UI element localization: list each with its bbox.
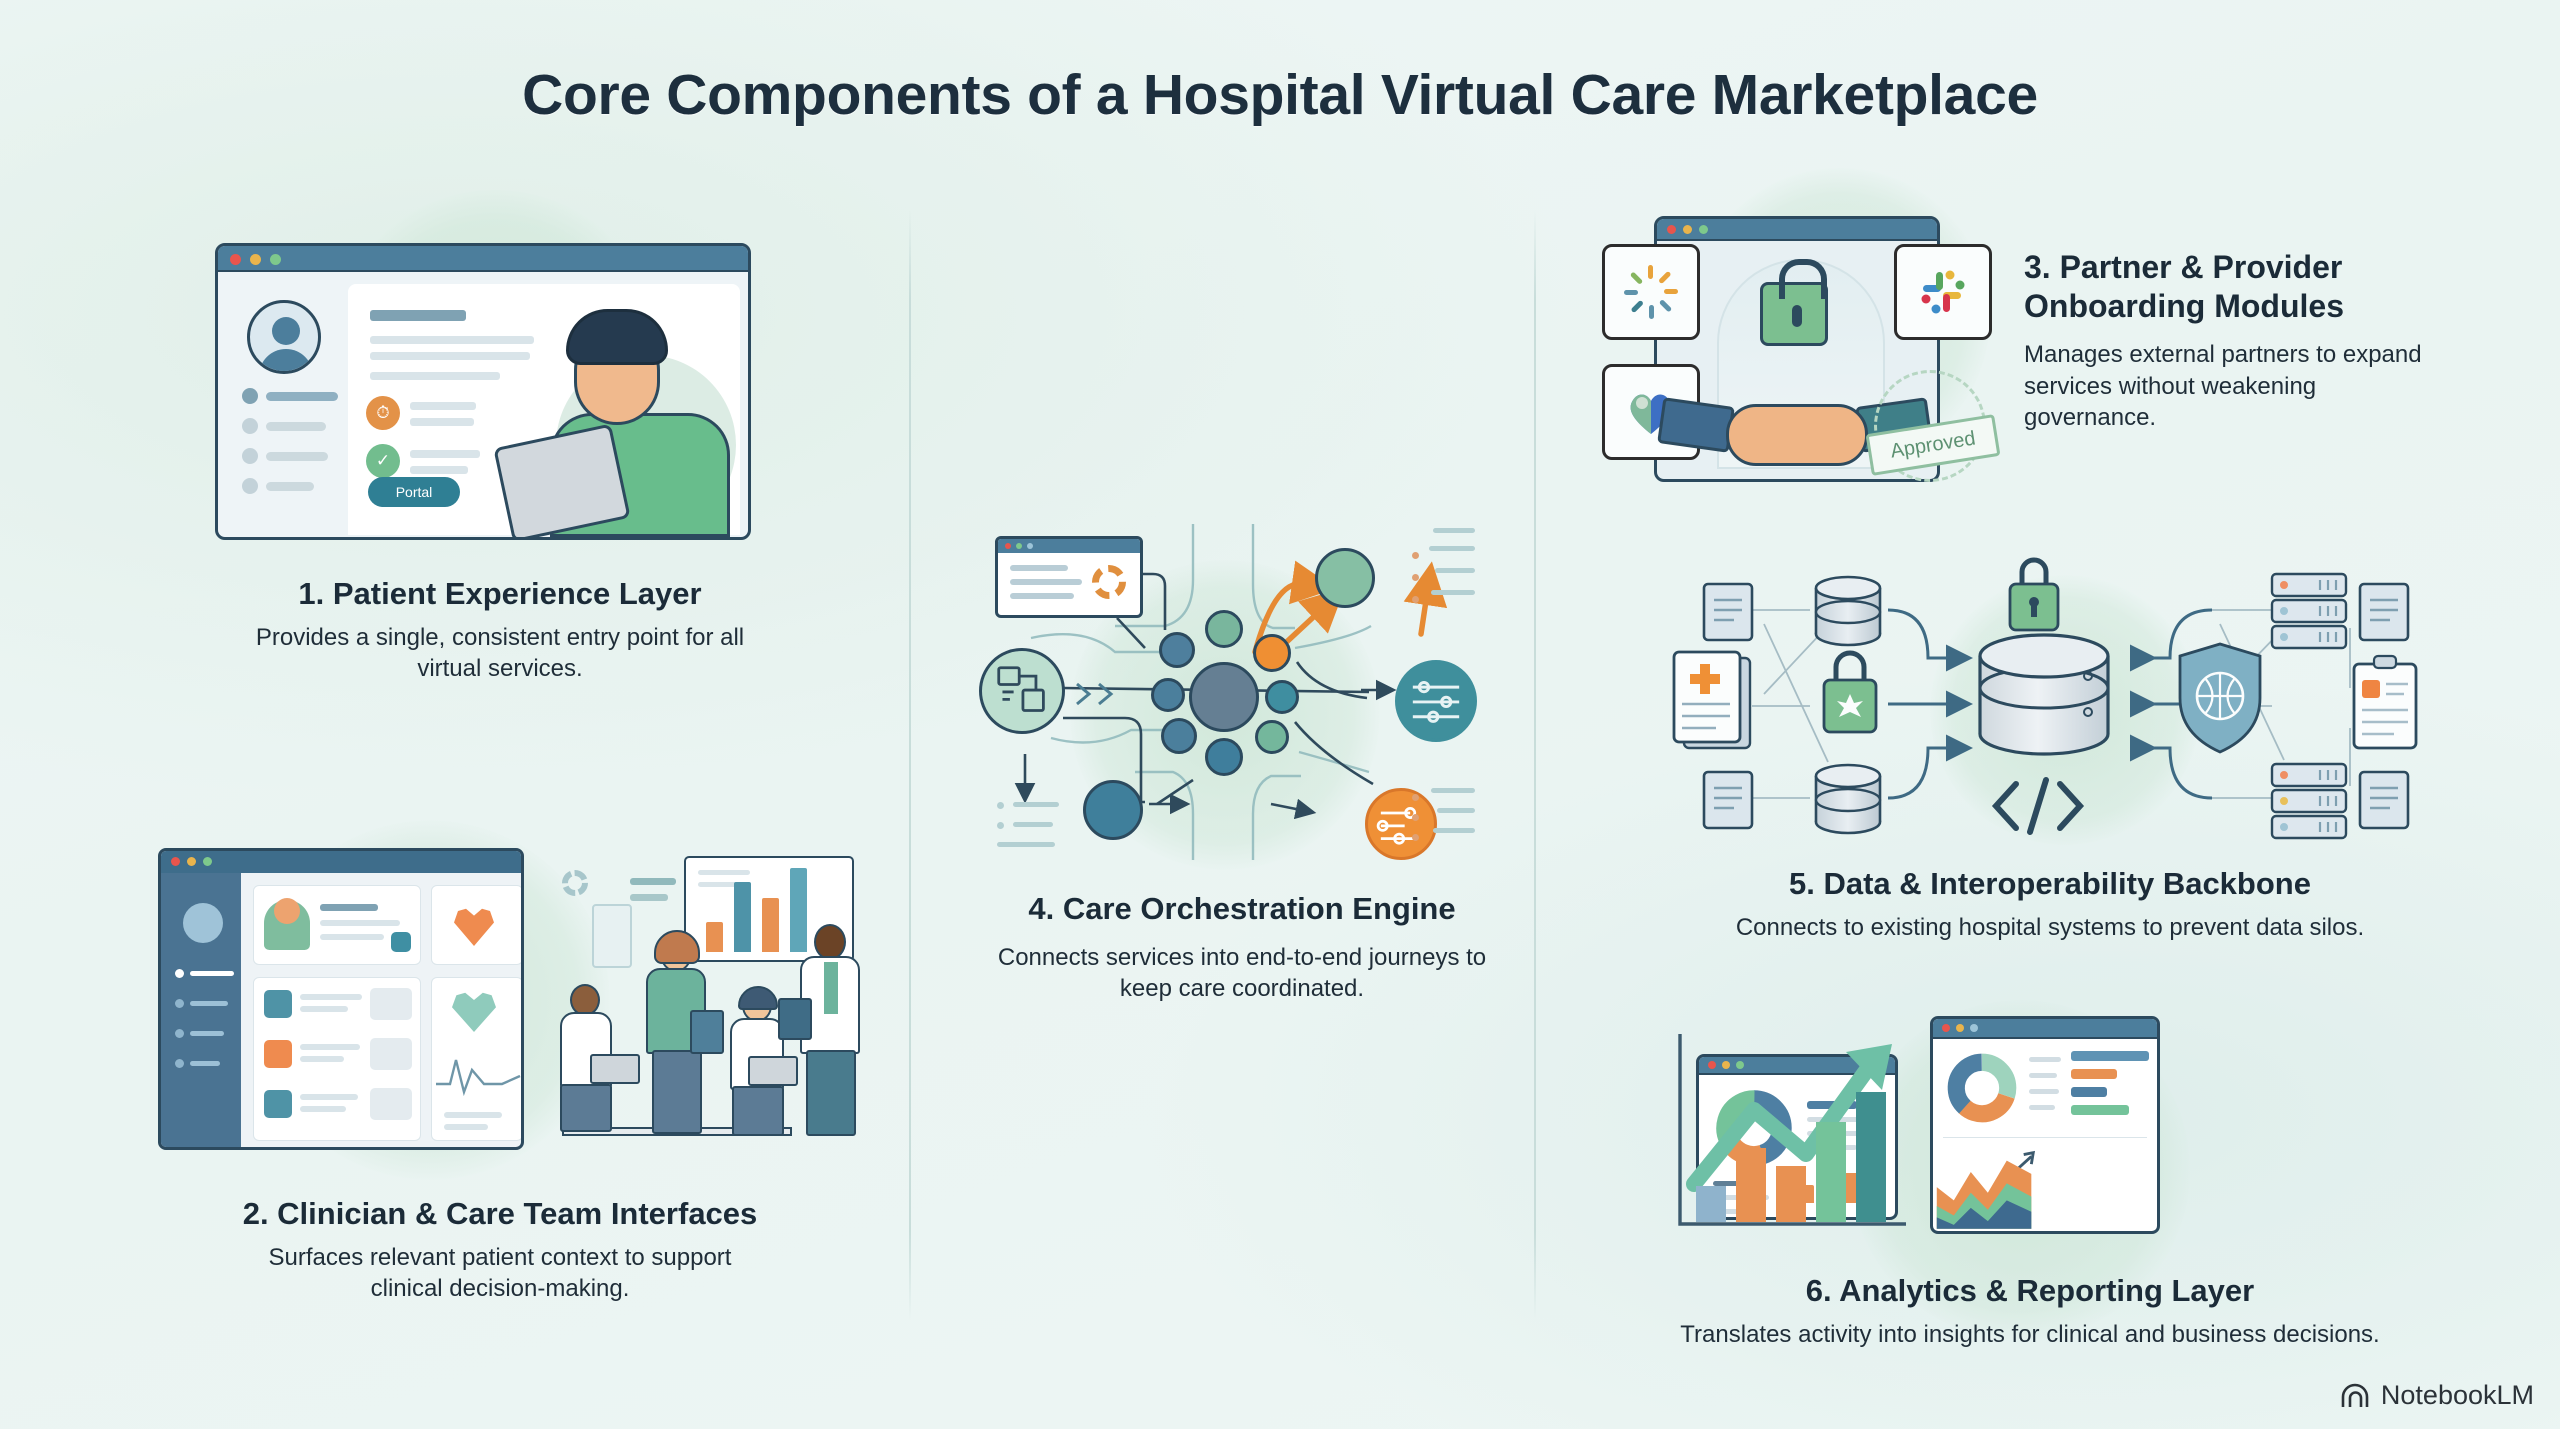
nav-label-2[interactable] bbox=[266, 422, 326, 431]
nav-dot-4[interactable] bbox=[242, 478, 258, 494]
vitals-heart-card[interactable] bbox=[431, 885, 523, 965]
ob-min-dot[interactable] bbox=[1683, 225, 1692, 234]
orders-line-2b bbox=[300, 1056, 344, 1062]
component-2-block: 2. Clinician & Care Team Interfaces Surf… bbox=[140, 1195, 860, 1305]
content-line-2 bbox=[370, 352, 530, 360]
ecg-card[interactable] bbox=[431, 977, 523, 1141]
ob-close-dot[interactable] bbox=[1667, 225, 1676, 234]
sliders-icon bbox=[1398, 663, 1474, 739]
patient-figure bbox=[532, 285, 744, 535]
list-line-tr-1 bbox=[1429, 546, 1475, 551]
laptop-left bbox=[590, 1054, 640, 1084]
pending-status-icon: ⏱ bbox=[366, 396, 400, 430]
notebooklm-logo-icon bbox=[2341, 1383, 2371, 1409]
satellite-node-left[interactable] bbox=[1151, 678, 1185, 712]
list-dot-bl-2 bbox=[997, 822, 1004, 829]
chat-app-logo-icon bbox=[1916, 265, 1970, 319]
list-line-br-3 bbox=[1433, 828, 1475, 833]
backbone-graph bbox=[1660, 548, 2450, 840]
ehr-sidebar bbox=[161, 873, 241, 1147]
list-line-bl-2 bbox=[1013, 822, 1053, 827]
governance-padlock-icon bbox=[1760, 282, 1828, 346]
ehr-nav-dot-1[interactable] bbox=[175, 969, 184, 978]
portal-sidebar bbox=[218, 272, 340, 537]
component-3-description: Manages external partners to expand serv… bbox=[2024, 339, 2444, 434]
list-line-bl-1 bbox=[1013, 802, 1059, 807]
ld-kpi-bar-4 bbox=[2071, 1105, 2129, 1115]
head bbox=[814, 924, 846, 960]
integration-tile-chat[interactable] bbox=[1894, 244, 1992, 340]
component-6-description: Translates activity into insights for cl… bbox=[1560, 1319, 2500, 1351]
hand-clasp bbox=[1726, 404, 1868, 466]
component-4-heading: 4. Care Orchestration Engine bbox=[962, 890, 1522, 928]
satellite-node-bottom[interactable] bbox=[1205, 738, 1243, 776]
browser-frame: ⏱ ✓ Portal bbox=[215, 243, 751, 540]
hub-node-central[interactable] bbox=[1189, 662, 1259, 732]
ld-kpi-bar-1 bbox=[2071, 1051, 2149, 1061]
patient-meta-2 bbox=[320, 934, 384, 940]
list-line-br-2 bbox=[1437, 808, 1475, 813]
server-rack-top bbox=[2272, 574, 2346, 648]
ehr-min-dot[interactable] bbox=[187, 857, 196, 866]
code-brackets-icon bbox=[1996, 780, 2080, 832]
orchestration-network-illustration bbox=[965, 522, 1485, 862]
ld-kpi-bar-3 bbox=[2071, 1087, 2107, 1097]
page-title: Core Components of a Hospital Virtual Ca… bbox=[0, 62, 2560, 128]
wall-note-2 bbox=[630, 894, 668, 901]
nav-label-1[interactable] bbox=[266, 392, 338, 401]
status-line-2b bbox=[410, 466, 468, 474]
list-dot-br-3 bbox=[1412, 834, 1419, 841]
component-6-heading: 6. Analytics & Reporting Layer bbox=[1560, 1272, 2500, 1310]
settings-titlebar bbox=[998, 539, 1140, 553]
shield-globe-icon bbox=[2180, 644, 2260, 752]
satellite-node-top[interactable] bbox=[1205, 610, 1243, 648]
orders-line-3a bbox=[300, 1094, 358, 1100]
orders-line-1a bbox=[300, 994, 362, 1000]
component-3-block: 3. Partner & Provider Onboarding Modules… bbox=[2024, 248, 2444, 434]
nav-label-4[interactable] bbox=[266, 482, 314, 491]
partner-onboarding-illustration: Approved bbox=[1602, 196, 1992, 496]
component-1-block: 1. Patient Experience Layer Provides a s… bbox=[180, 575, 820, 685]
component-3-heading: 3. Partner & Provider Onboarding Modules bbox=[2024, 248, 2444, 326]
settings-line-1 bbox=[1010, 565, 1068, 571]
db-cylinder-bottom-left bbox=[1816, 765, 1880, 833]
patient-name-line bbox=[320, 904, 378, 911]
component-1-description: Provides a single, consistent entry poin… bbox=[180, 622, 820, 685]
padlock-top-center bbox=[2010, 560, 2058, 630]
ld-divider bbox=[1943, 1137, 2147, 1138]
nav-dot-3[interactable] bbox=[242, 448, 258, 464]
endpoint-node-routing[interactable] bbox=[1365, 788, 1437, 860]
ehr-avatar bbox=[183, 903, 223, 943]
monitor-figure-icon bbox=[592, 904, 632, 968]
watermark-label: NotebookLM bbox=[2381, 1380, 2534, 1411]
s-max-dot[interactable] bbox=[1027, 543, 1033, 549]
ehr-nav-dot-4[interactable] bbox=[175, 1059, 184, 1068]
component-5-description: Connects to existing hospital systems to… bbox=[1600, 912, 2500, 944]
component-5-block: 5. Data & Interoperability Backbone Conn… bbox=[1600, 865, 2500, 943]
component-4-block: 4. Care Orchestration Engine Connects se… bbox=[962, 890, 1522, 1005]
board-bar-2 bbox=[734, 882, 751, 952]
browser-titlebar bbox=[218, 246, 748, 272]
ld-legend-line-4 bbox=[2029, 1105, 2055, 1110]
ld-legend-line-3 bbox=[2029, 1089, 2059, 1094]
document-bottom-left bbox=[1704, 772, 1752, 828]
endpoint-node-sliders[interactable] bbox=[1395, 660, 1477, 742]
window-maximize-dot[interactable] bbox=[270, 254, 281, 265]
column-divider-left bbox=[909, 210, 911, 1320]
satellite-node-right[interactable] bbox=[1265, 680, 1299, 714]
satellite-node-lower-right[interactable] bbox=[1255, 720, 1289, 754]
list-dot-br-1 bbox=[1412, 794, 1419, 801]
component-6-block: 6. Analytics & Reporting Layer Translate… bbox=[1560, 1272, 2500, 1350]
s-min-dot[interactable] bbox=[1016, 543, 1022, 549]
doctor-standing bbox=[792, 924, 868, 1136]
donut-chart-large bbox=[1943, 1049, 2021, 1127]
ecg-trace bbox=[432, 1040, 524, 1110]
db-cylinder-top-left bbox=[1816, 577, 1880, 645]
settings-window[interactable] bbox=[995, 536, 1143, 618]
clipboard-held bbox=[778, 998, 812, 1040]
orders-line-1b bbox=[300, 1006, 348, 1012]
orders-line-3b bbox=[300, 1106, 346, 1112]
column-divider-right bbox=[1534, 210, 1536, 1320]
settings-line-2 bbox=[1010, 579, 1082, 585]
padlock-hipaa-left bbox=[1824, 653, 1876, 732]
patient-portal-illustration: ⏱ ✓ Portal bbox=[215, 243, 751, 540]
area-chart bbox=[1933, 1145, 2037, 1233]
board-line-2 bbox=[698, 882, 738, 887]
document-flow-icon bbox=[982, 651, 1062, 731]
ld-legend-line-2 bbox=[2029, 1073, 2057, 1078]
data-backbone-illustration bbox=[1660, 548, 2450, 840]
list-line-tr-2 bbox=[1435, 568, 1475, 573]
patient-summary-card[interactable] bbox=[253, 885, 421, 965]
content-line-1 bbox=[370, 336, 534, 344]
spinner-logo-icon bbox=[1622, 263, 1680, 321]
server-rack-bottom bbox=[2272, 764, 2346, 838]
document-bottom-right bbox=[2360, 772, 2408, 828]
nav-dot-2[interactable] bbox=[242, 418, 258, 434]
analytics-illustration bbox=[1668, 996, 2438, 1248]
ld-legend-line-1 bbox=[2029, 1057, 2061, 1062]
ecg-line-2 bbox=[444, 1124, 488, 1130]
list-line-br-1 bbox=[1431, 788, 1475, 793]
wall-note-1 bbox=[630, 878, 676, 885]
large-dash-titlebar bbox=[1933, 1019, 2157, 1039]
endpoint-node-top-right[interactable] bbox=[1315, 548, 1375, 608]
patient-meta-1 bbox=[320, 920, 400, 926]
component-1-heading: 1. Patient Experience Layer bbox=[180, 575, 820, 613]
nurse-standing bbox=[640, 936, 714, 1136]
component-2-heading: 2. Clinician & Care Team Interfaces bbox=[140, 1195, 860, 1233]
orders-line-2a bbox=[300, 1044, 360, 1050]
settings-line-3 bbox=[1010, 593, 1074, 599]
board-line-1 bbox=[698, 870, 750, 875]
ld-kpi-bar-2 bbox=[2071, 1069, 2117, 1079]
ecg-line-1 bbox=[444, 1112, 502, 1118]
window-close-dot[interactable] bbox=[230, 254, 241, 265]
tile-meds-icon bbox=[264, 1090, 292, 1118]
ehr-nav-label-4[interactable] bbox=[190, 1061, 220, 1066]
approved-check-icon: ✓ bbox=[366, 444, 400, 478]
clinician-interface-illustration bbox=[158, 848, 848, 1170]
medical-record-stack bbox=[1674, 652, 1750, 748]
list-dot-tr-2 bbox=[1412, 574, 1419, 581]
ecg-heart-icon bbox=[452, 992, 496, 1032]
hand-left-sleeve bbox=[1657, 397, 1735, 453]
document-top-right bbox=[2360, 584, 2408, 640]
satellite-node-lower-left[interactable] bbox=[1161, 718, 1197, 754]
list-line-bl-3 bbox=[997, 842, 1055, 847]
component-5-heading: 5. Data & Interoperability Backbone bbox=[1600, 865, 2500, 903]
ehr-nav-dot-2[interactable] bbox=[175, 999, 184, 1008]
tablet-held bbox=[690, 1010, 724, 1054]
component-4-description: Connects services into end-to-end journe… bbox=[962, 942, 1522, 1005]
portal-button[interactable]: Portal bbox=[368, 477, 460, 507]
board-bar-3 bbox=[762, 898, 779, 952]
content-heading-line bbox=[370, 310, 466, 321]
endpoint-node-bottom-left[interactable] bbox=[1083, 780, 1143, 840]
ob-max-dot[interactable] bbox=[1699, 225, 1708, 234]
tile-thumb-1 bbox=[370, 988, 412, 1020]
heart-icon bbox=[454, 908, 494, 946]
ehr-dashboard bbox=[158, 848, 524, 1150]
clinician-seated-left bbox=[554, 984, 624, 1136]
tile-alert-icon bbox=[264, 1040, 292, 1068]
window-minimize-dot[interactable] bbox=[250, 254, 261, 265]
list-line-tr-3 bbox=[1431, 590, 1475, 595]
ehr-nav-dot-3[interactable] bbox=[175, 1029, 184, 1038]
list-line-tr-4 bbox=[1433, 528, 1475, 533]
nav-label-3[interactable] bbox=[266, 452, 328, 461]
list-dot-br-2 bbox=[1412, 814, 1419, 821]
onboarding-titlebar bbox=[1657, 219, 1937, 241]
status-line-2a bbox=[410, 450, 480, 458]
satellite-node-orange[interactable] bbox=[1253, 634, 1291, 672]
figure-hair bbox=[566, 309, 668, 365]
ehr-nav-label-1[interactable] bbox=[190, 971, 234, 976]
ld-max-dot[interactable] bbox=[1970, 1024, 1978, 1032]
tile-thumb-3 bbox=[370, 1088, 412, 1120]
component-2-description: Surfaces relevant patient context to sup… bbox=[140, 1242, 860, 1305]
gear-icon[interactable] bbox=[1092, 565, 1126, 599]
orders-card[interactable] bbox=[253, 977, 421, 1141]
clipboard-right bbox=[2354, 656, 2416, 748]
ld-close-dot[interactable] bbox=[1942, 1024, 1950, 1032]
integration-tile-spinner[interactable] bbox=[1602, 244, 1700, 340]
routing-icon bbox=[1368, 791, 1434, 857]
portal-content-panel: ⏱ ✓ Portal bbox=[348, 284, 740, 535]
list-dot-tr-1 bbox=[1412, 552, 1419, 559]
wall-gear-icon bbox=[562, 870, 588, 896]
ehr-nav-label-2[interactable] bbox=[190, 1001, 228, 1006]
care-team-group bbox=[544, 848, 848, 1170]
tile-and-icon bbox=[264, 990, 292, 1018]
satellite-node-upper-left[interactable] bbox=[1159, 632, 1195, 668]
endpoint-node-document[interactable] bbox=[979, 648, 1065, 734]
list-dot-tr-3 bbox=[1412, 596, 1419, 603]
nav-dot-active[interactable] bbox=[242, 388, 258, 404]
avatar bbox=[247, 300, 321, 374]
ld-min-dot[interactable] bbox=[1956, 1024, 1964, 1032]
ehr-max-dot[interactable] bbox=[203, 857, 212, 866]
document-top-left bbox=[1704, 584, 1752, 640]
list-dot-bl-1 bbox=[997, 802, 1004, 809]
tile-thumb-2 bbox=[370, 1038, 412, 1070]
ehr-titlebar bbox=[161, 851, 521, 873]
laptop-right bbox=[748, 1056, 798, 1086]
ehr-close-dot[interactable] bbox=[171, 857, 180, 866]
s-close-dot[interactable] bbox=[1005, 543, 1011, 549]
ehr-nav-label-3[interactable] bbox=[190, 1031, 224, 1036]
growth-bar-chart bbox=[1668, 1026, 1918, 1256]
status-line-1a bbox=[410, 402, 476, 410]
dashboard-window-large[interactable] bbox=[1930, 1016, 2160, 1234]
watermark: NotebookLM bbox=[2341, 1380, 2534, 1411]
central-database bbox=[1980, 635, 2108, 754]
status-line-1b bbox=[410, 418, 474, 426]
content-line-3 bbox=[370, 372, 500, 380]
